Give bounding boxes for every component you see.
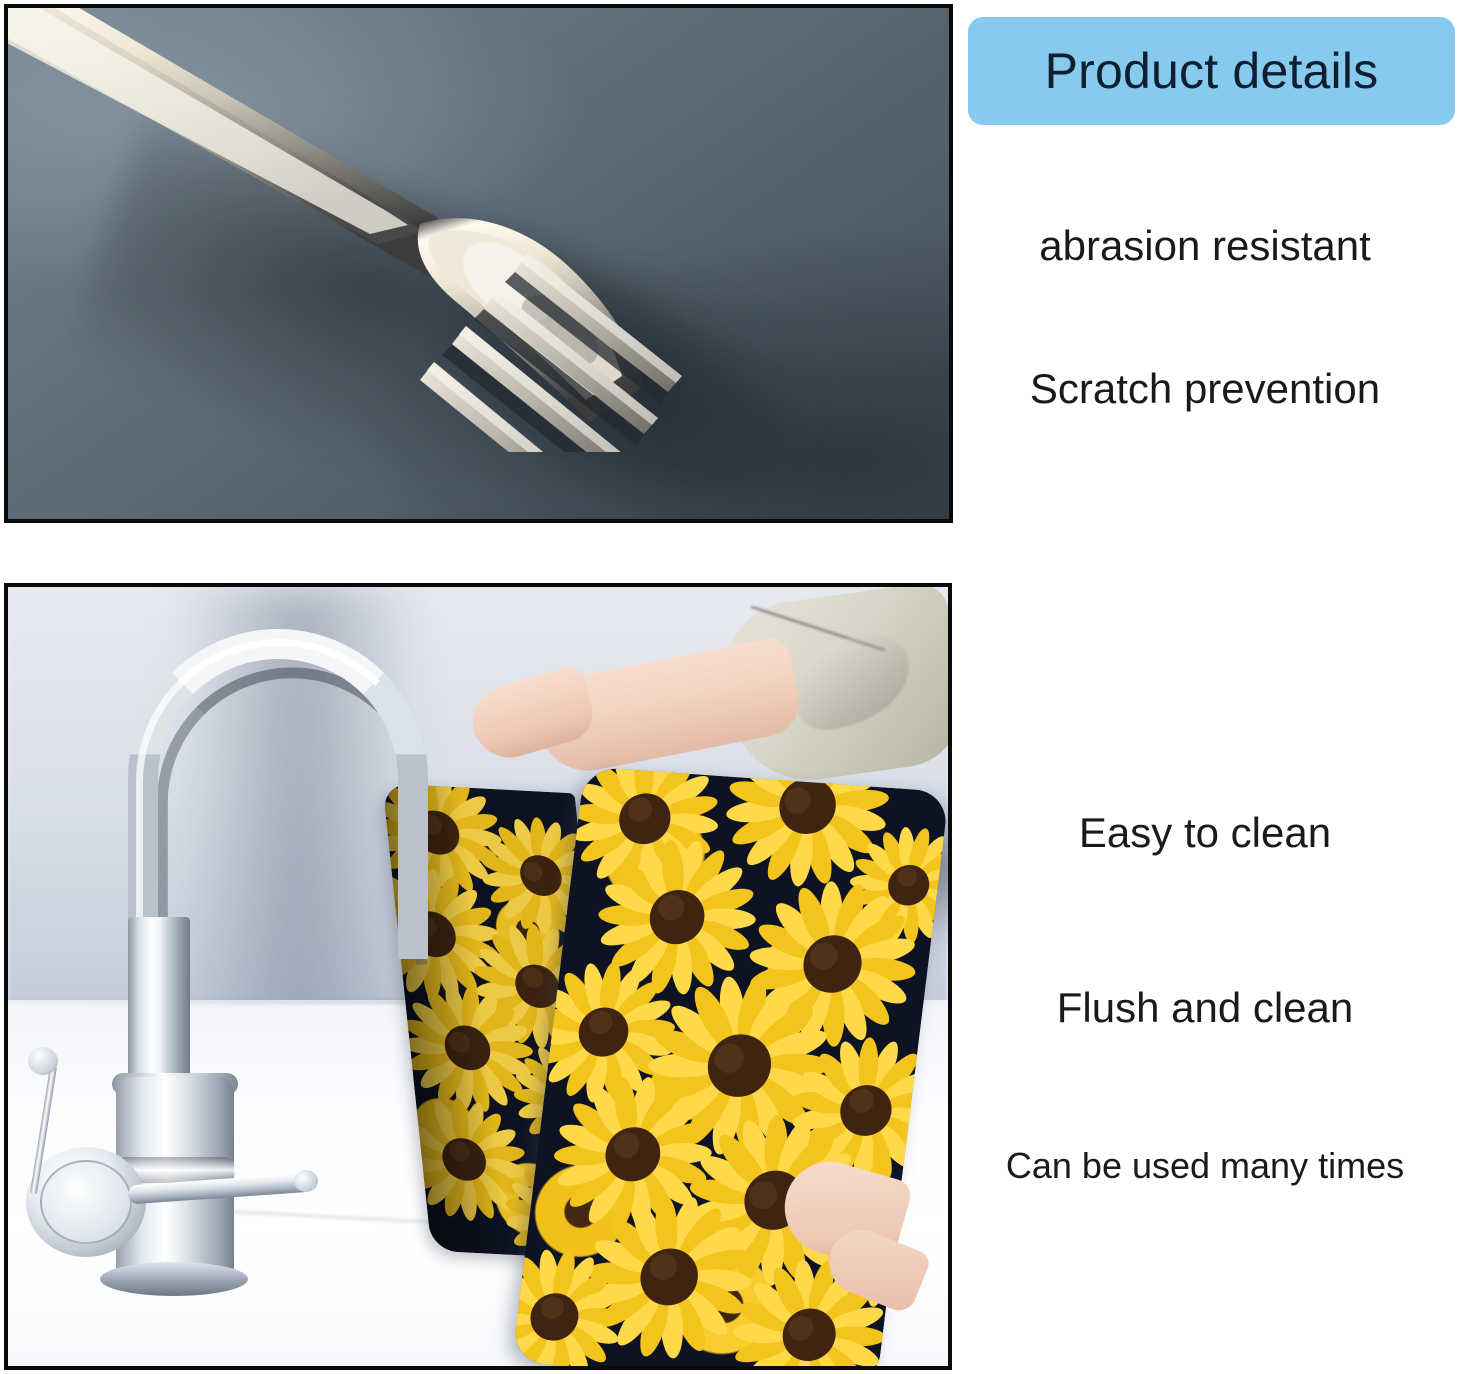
photo-faucet-sunflower-mat — [4, 583, 952, 1370]
fork-illustration — [4, 4, 728, 452]
feature-easy-to-clean: Easy to clean — [953, 812, 1457, 854]
feature-scratch-prevention: Scratch prevention — [953, 368, 1457, 410]
feature-reusable: Can be used many times — [953, 1148, 1457, 1184]
popup-drain-knob — [28, 1047, 58, 1075]
product-details-badge: Product details — [968, 17, 1455, 125]
photo-fork-on-slate — [4, 4, 953, 523]
blurred-dark-band — [422, 790, 952, 946]
faucet-base — [100, 1262, 248, 1296]
feature-abrasion-resistant: abrasion resistant — [953, 225, 1457, 267]
feature-text-column: Product details abrasion resistant Scrat… — [953, 0, 1457, 1374]
faucet-arc-highlight — [136, 639, 422, 949]
product-details-label: Product details — [1045, 46, 1379, 96]
feature-flush-and-clean: Flush and clean — [953, 987, 1457, 1029]
faucet-lever-knob — [294, 1170, 318, 1192]
product-detail-page: Product details abrasion resistant Scrat… — [0, 0, 1457, 1374]
faucet-cap — [26, 1147, 146, 1257]
